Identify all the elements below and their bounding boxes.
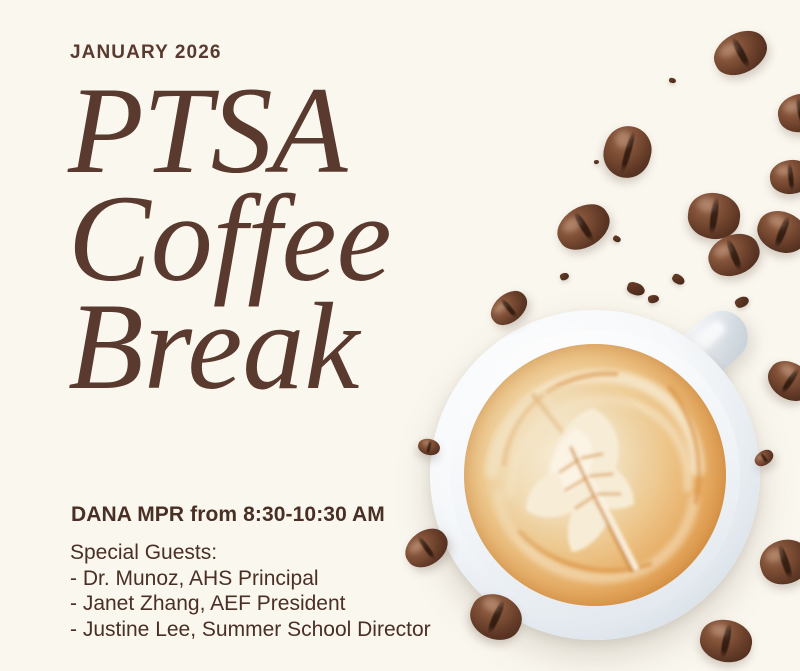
text-layer: JANUARY 2026 PTSA Coffee Break DANA MPR … bbox=[0, 0, 800, 671]
special-guests-heading: Special Guests: bbox=[70, 540, 431, 566]
page-title: PTSA Coffee Break bbox=[68, 72, 392, 405]
guest-item: - Dr. Munoz, AHS Principal bbox=[70, 566, 431, 592]
issue-date: JANUARY 2026 bbox=[70, 42, 222, 64]
headline-line-3: Break bbox=[68, 288, 392, 406]
special-guests-list: Special Guests: - Dr. Munoz, AHS Princip… bbox=[70, 540, 431, 642]
ptsa-coffee-break-flyer: JANUARY 2026 PTSA Coffee Break DANA MPR … bbox=[0, 0, 800, 671]
guest-item: - Justine Lee, Summer School Director bbox=[70, 617, 431, 643]
venue-and-time: DANA MPR from 8:30-10:30 AM bbox=[71, 503, 385, 527]
guest-item: - Janet Zhang, AEF President bbox=[70, 591, 431, 617]
